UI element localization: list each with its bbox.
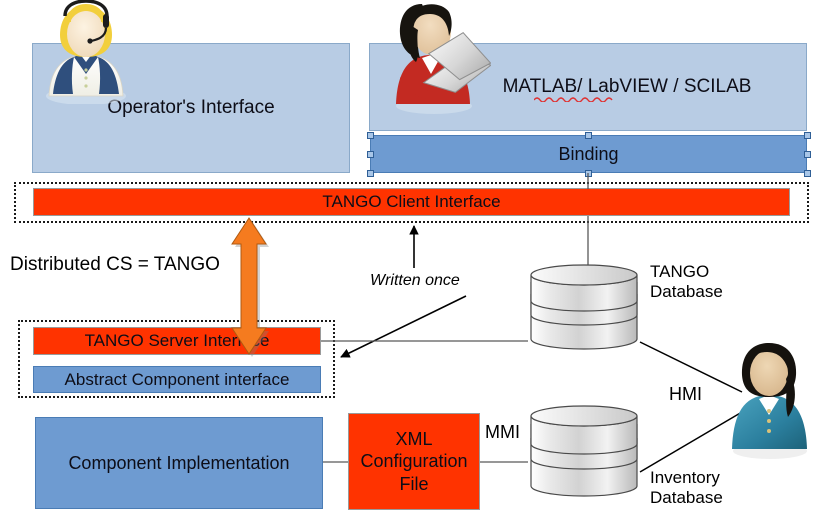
xml-configuration-file-box[interactable]: XML Configuration File [348,413,480,510]
tango-database-label: TANGO Database [650,262,723,301]
selection-handle-e[interactable] [804,151,811,158]
binding-box[interactable]: Binding [370,135,807,173]
selection-handle-nw[interactable] [367,132,374,139]
xml-line-3: File [399,473,428,496]
mmi-label: MMI [485,422,520,443]
selection-handle-s[interactable] [585,170,592,177]
inventory-database[interactable] [527,404,641,510]
selection-handle-sw[interactable] [367,170,374,177]
selection-handle-n[interactable] [585,132,592,139]
tango-server-interface-label: TANGO Server Interface [85,331,270,351]
tango-client-interface-label: TANGO Client Interface [322,192,500,212]
selection-handle-ne[interactable] [804,132,811,139]
tango-database-line-1: TANGO [650,262,723,282]
selection-handle-w[interactable] [367,151,374,158]
tango-database-line-2: Database [650,282,723,302]
spellcheck-squiggle [534,96,614,102]
hmi-user-avatar [722,339,818,461]
written-once-down-arrow [341,296,466,357]
inventory-database-line-2: Database [650,488,723,508]
operator-interface-label: Operator's Interface [107,97,274,119]
inventory-database-label: Inventory Database [650,468,723,507]
selection-handle-se[interactable] [804,170,811,177]
xml-line-2: Configuration [360,450,467,473]
tango-database[interactable] [527,263,641,363]
engineer-avatar [386,0,491,115]
abstract-component-interface-box[interactable]: Abstract Component interface [33,366,321,393]
abstract-component-interface-label: Abstract Component interface [65,370,290,390]
operator-avatar [43,0,129,104]
xml-line-1: XML [395,428,432,451]
hmi-label: HMI [669,384,702,405]
distributed-cs-label: Distributed CS = TANGO [10,254,220,276]
component-implementation-label: Component Implementation [68,453,289,474]
binding-label: Binding [558,144,618,165]
written-once-label: Written once [370,272,460,290]
inventory-database-line-1: Inventory [650,468,723,488]
tango-client-interface-box[interactable]: TANGO Client Interface [33,188,790,216]
diagram-canvas: Operator's Interface MATLAB/ LabVIEW / S… [0,0,822,524]
tango-server-interface-box[interactable]: TANGO Server Interface [33,327,321,355]
component-implementation-box[interactable]: Component Implementation [35,417,323,509]
